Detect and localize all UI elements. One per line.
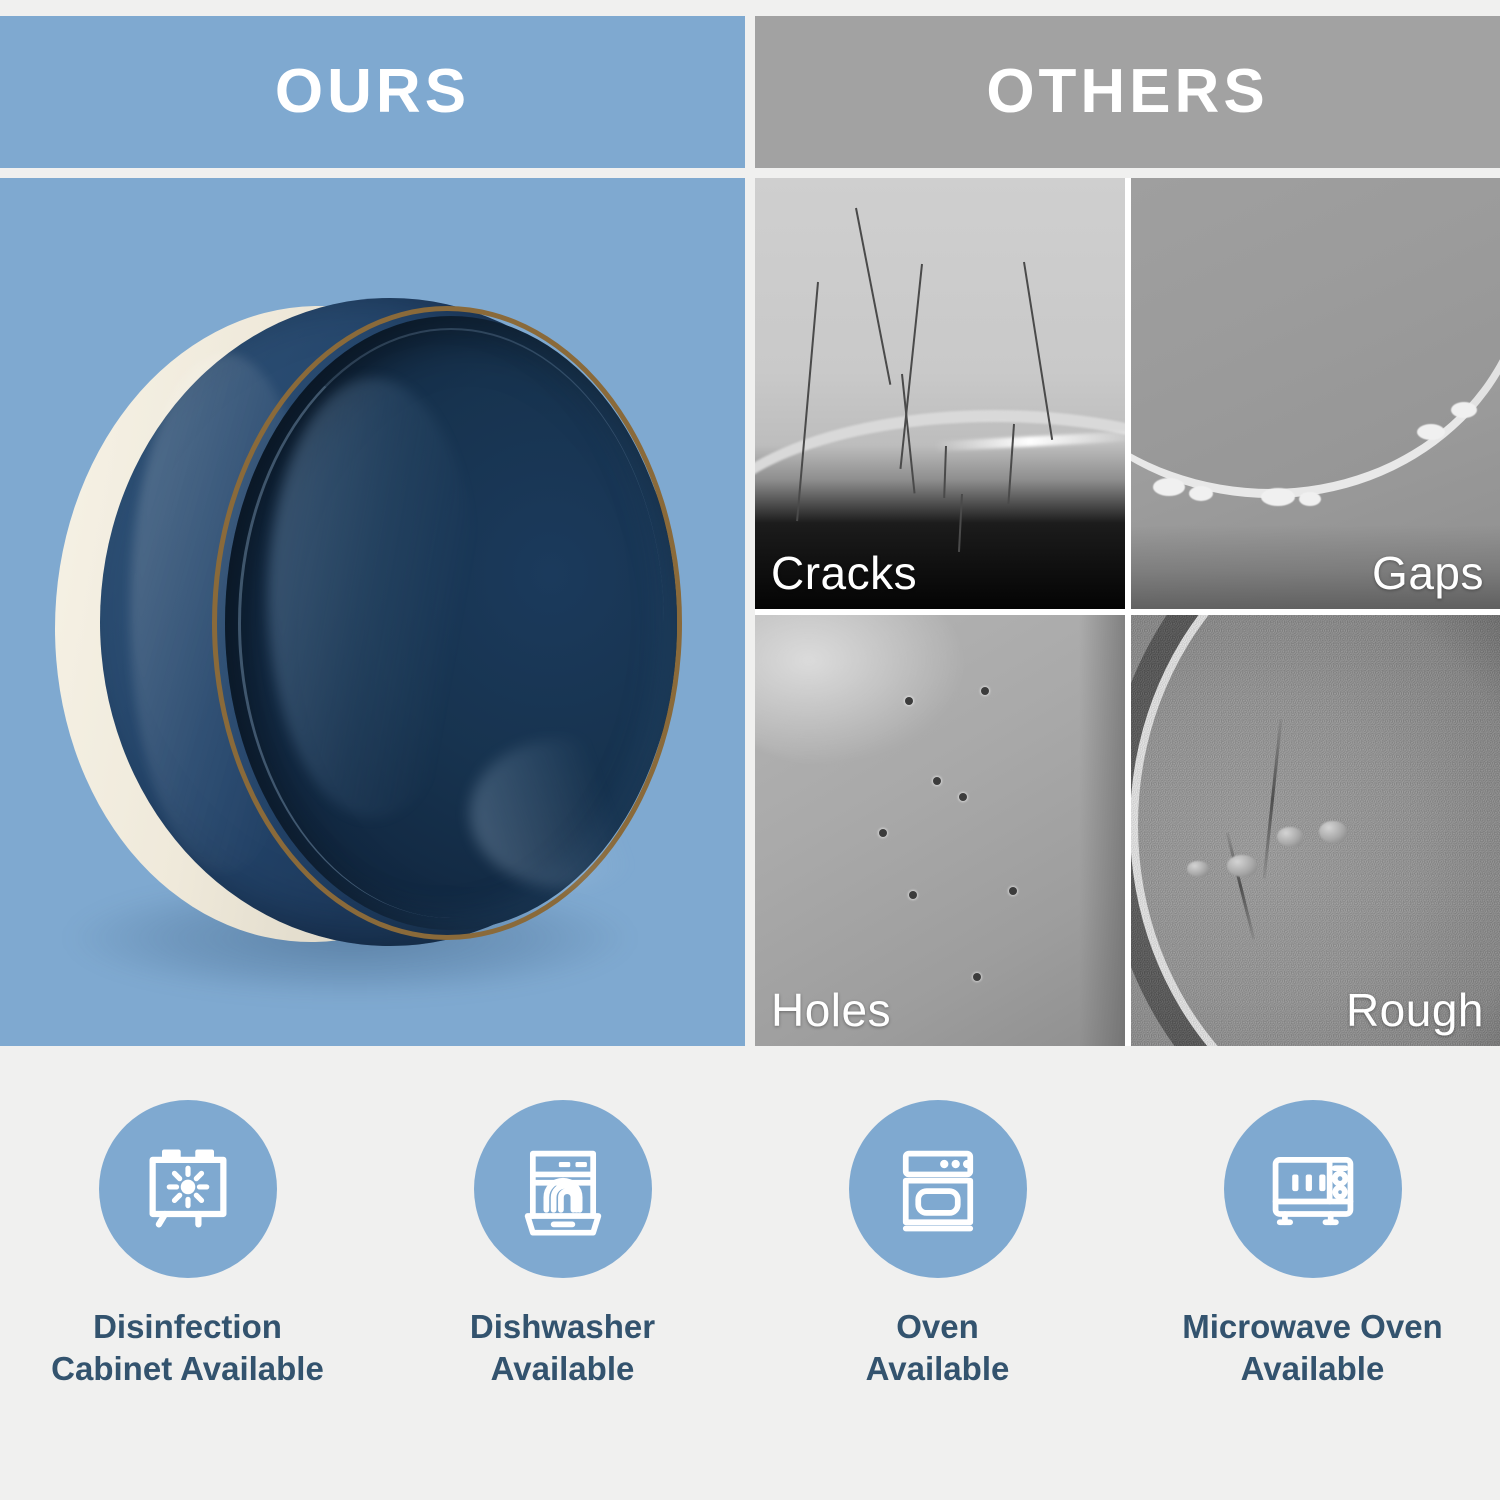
pinhole-defect [1009, 887, 1017, 895]
bowl-illustration [0, 178, 745, 1046]
pinhole-defect [905, 697, 913, 705]
defect-label-cracks: Cracks [771, 548, 917, 599]
oven-icon [886, 1137, 990, 1241]
comparison-content-row: Cracks Gaps [0, 178, 1500, 1046]
comparison-header-row: OURS OTHERS [0, 16, 1500, 168]
microwave-oven-icon [1261, 1137, 1365, 1241]
others-header-label: OTHERS [986, 61, 1268, 123]
defect-label-holes: Holes [771, 985, 891, 1036]
rough-surface-grain [1131, 615, 1500, 1046]
bowl-inner-reflection-upper [268, 378, 478, 818]
defect-tile-holes: Holes [755, 615, 1125, 1046]
rough-bump-defect [1319, 821, 1347, 843]
feature-dishwasher: Dishwasher Available [375, 1100, 750, 1480]
ours-header-label: OURS [275, 61, 470, 123]
pinhole-defect [879, 829, 887, 837]
feature-icon-circle [474, 1100, 652, 1278]
bowl-inner-reflection-lower [470, 738, 660, 888]
defect-tile-cracks: Cracks [755, 178, 1125, 609]
others-defect-grid: Cracks Gaps [755, 178, 1500, 1046]
defect-tile-gaps: Gaps [1131, 178, 1500, 609]
disinfection-cabinet-icon [136, 1137, 240, 1241]
product-comparison-infographic: OURS OTHERS [0, 0, 1500, 1500]
pinhole-defect [933, 777, 941, 785]
rough-bump-defect [1277, 827, 1303, 847]
feature-label: Disinfection Cabinet Available [51, 1306, 324, 1390]
rough-bump-defect [1227, 855, 1257, 877]
ours-header: OURS [0, 16, 745, 168]
holes-corner-highlight [755, 615, 965, 765]
holes-side-shading [1079, 615, 1125, 1046]
feature-icon-circle [1224, 1100, 1402, 1278]
feature-icon-circle [99, 1100, 277, 1278]
dishwasher-icon [511, 1137, 615, 1241]
feature-icon-circle [849, 1100, 1027, 1278]
gaps-glaze-blob [1261, 488, 1295, 506]
gaps-glaze-blob [1417, 424, 1445, 440]
defect-label-gaps: Gaps [1372, 548, 1484, 599]
feature-microwave-oven: Microwave Oven Available [1125, 1100, 1500, 1480]
gaps-glaze-blob [1451, 402, 1477, 418]
feature-label: Oven Available [866, 1306, 1010, 1390]
pinhole-defect [909, 891, 917, 899]
others-header: OTHERS [755, 16, 1500, 168]
defect-tile-rough: Rough [1131, 615, 1500, 1046]
pinhole-defect [959, 793, 967, 801]
feature-label: Dishwasher Available [470, 1306, 655, 1390]
gaps-glaze-blob [1299, 492, 1321, 506]
rough-bump-defect [1187, 861, 1209, 877]
pinhole-defect [981, 687, 989, 695]
feature-oven: Oven Available [750, 1100, 1125, 1480]
gaps-glaze-blob [1153, 478, 1185, 496]
feature-row: Disinfection Cabinet Available [0, 1100, 1500, 1480]
pinhole-defect [973, 973, 981, 981]
crack-line [855, 208, 891, 385]
gaps-base-disc [1131, 178, 1500, 498]
feature-label: Microwave Oven Available [1182, 1306, 1442, 1390]
ours-product-image [0, 178, 745, 1046]
feature-disinfection-cabinet: Disinfection Cabinet Available [0, 1100, 375, 1480]
defect-label-rough: Rough [1346, 985, 1484, 1036]
gaps-glaze-blob [1189, 486, 1213, 501]
